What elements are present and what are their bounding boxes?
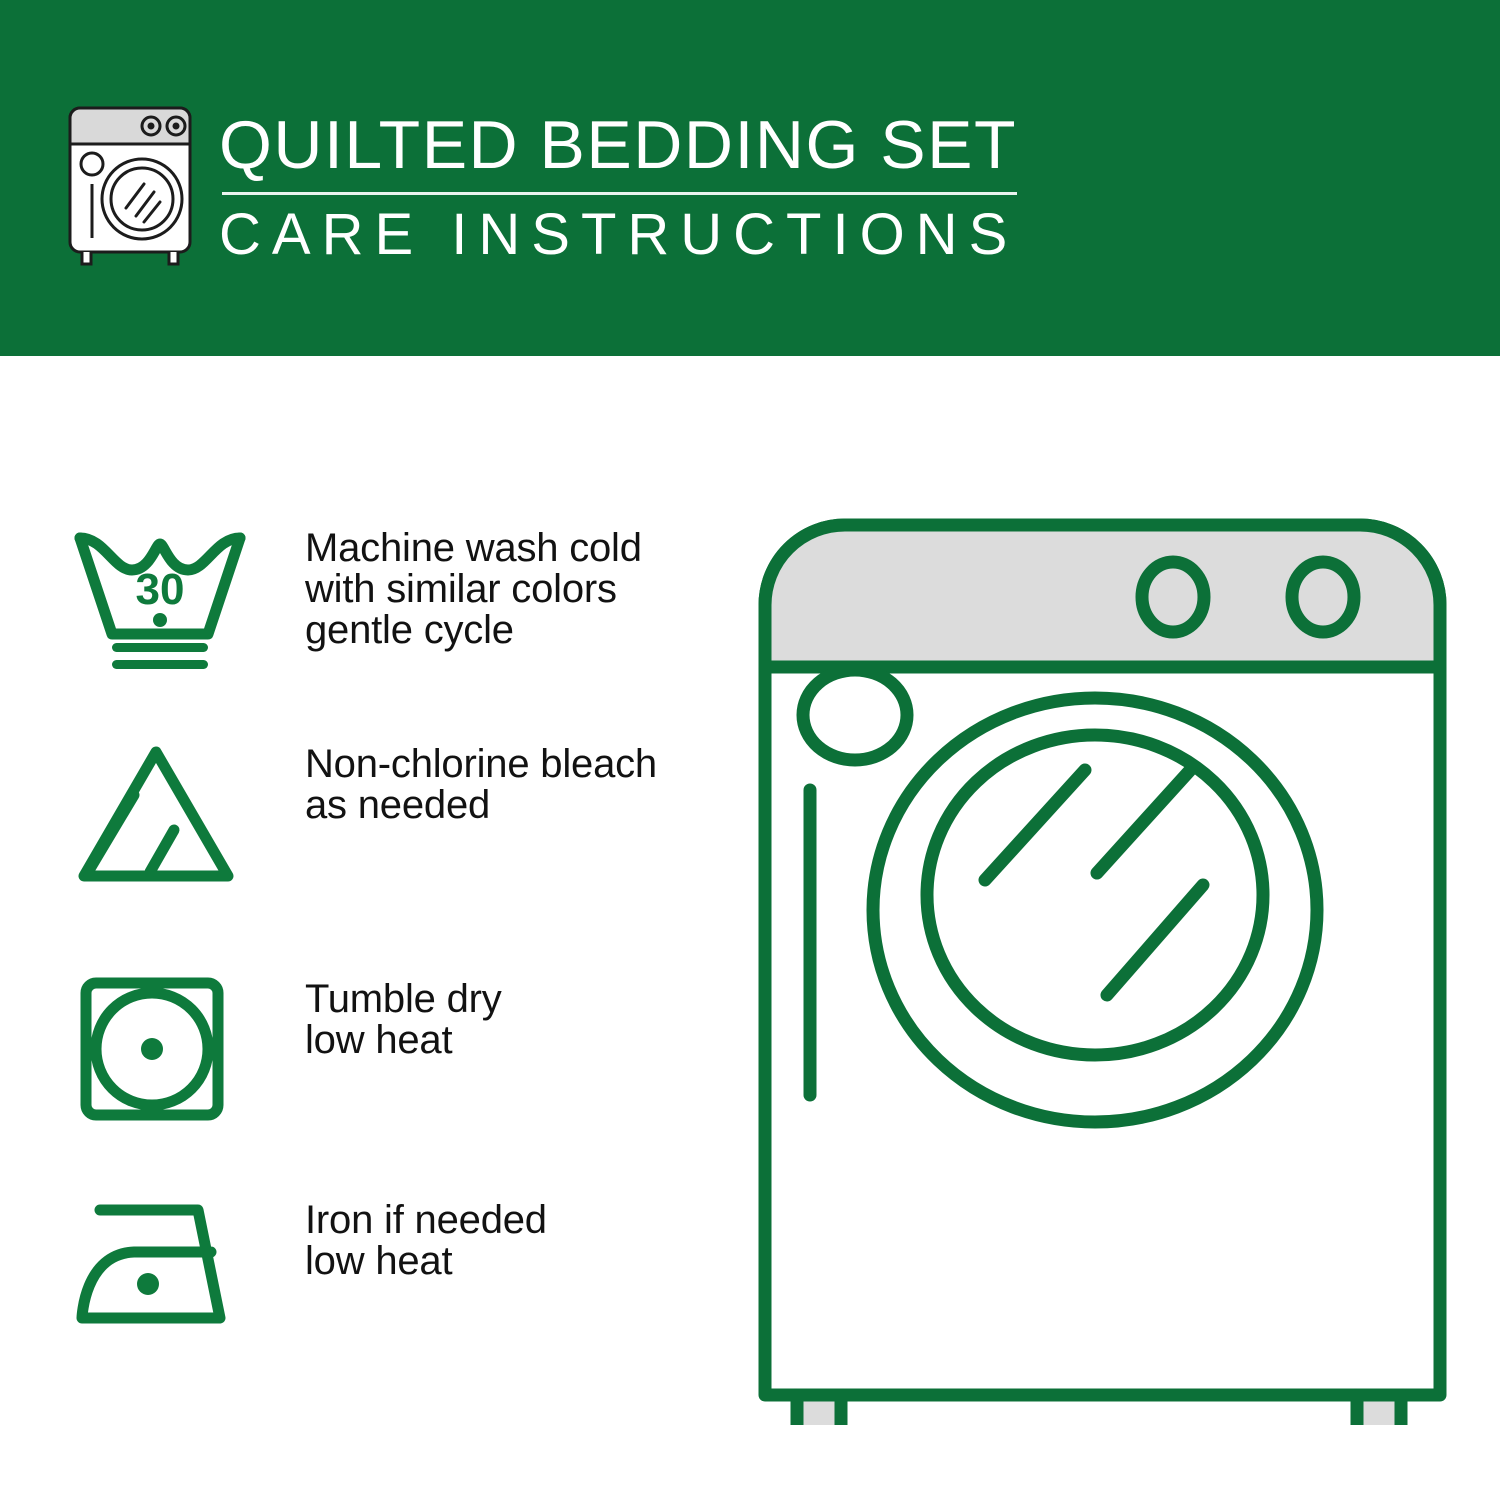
care-text-machine-wash: Machine wash cold with similar colors ge… bbox=[305, 524, 642, 651]
control-panel bbox=[765, 525, 1440, 667]
wash-tub-30-icon: 30 bbox=[70, 524, 250, 674]
washing-machine-illustration bbox=[735, 495, 1470, 1425]
foot-right bbox=[1357, 1395, 1401, 1425]
care-row-tumble-dry: Tumble dry low heat bbox=[0, 975, 502, 1125]
foot-left bbox=[797, 1395, 841, 1425]
page-subtitle: CARE INSTRUCTIONS bbox=[219, 203, 1029, 267]
care-row-iron: Iron if needed low heat bbox=[0, 1196, 547, 1346]
care-instructions-page: QUILTED BEDDING SET CARE INSTRUCTIONS 30… bbox=[0, 0, 1500, 1500]
washing-machine-icon bbox=[62, 104, 198, 270]
page-title: QUILTED BEDDING SET bbox=[219, 108, 1029, 182]
header-banner: QUILTED BEDDING SET CARE INSTRUCTIONS bbox=[0, 0, 1500, 356]
care-text-bleach: Non-chlorine bleach as needed bbox=[305, 740, 657, 826]
header-text-block: QUILTED BEDDING SET CARE INSTRUCTIONS bbox=[219, 108, 1029, 267]
svg-text:30: 30 bbox=[136, 565, 185, 614]
care-text-tumble-dry: Tumble dry low heat bbox=[305, 975, 502, 1061]
iron-icon bbox=[70, 1196, 250, 1346]
care-row-machine-wash: 30 Machine wash cold with similar colors… bbox=[0, 524, 642, 674]
care-text-iron: Iron if needed low heat bbox=[305, 1196, 547, 1282]
tumble-dry-icon bbox=[70, 975, 250, 1125]
title-divider bbox=[222, 192, 1017, 195]
care-row-bleach: Non-chlorine bleach as needed bbox=[0, 740, 657, 890]
bleach-triangle-icon bbox=[70, 740, 250, 890]
